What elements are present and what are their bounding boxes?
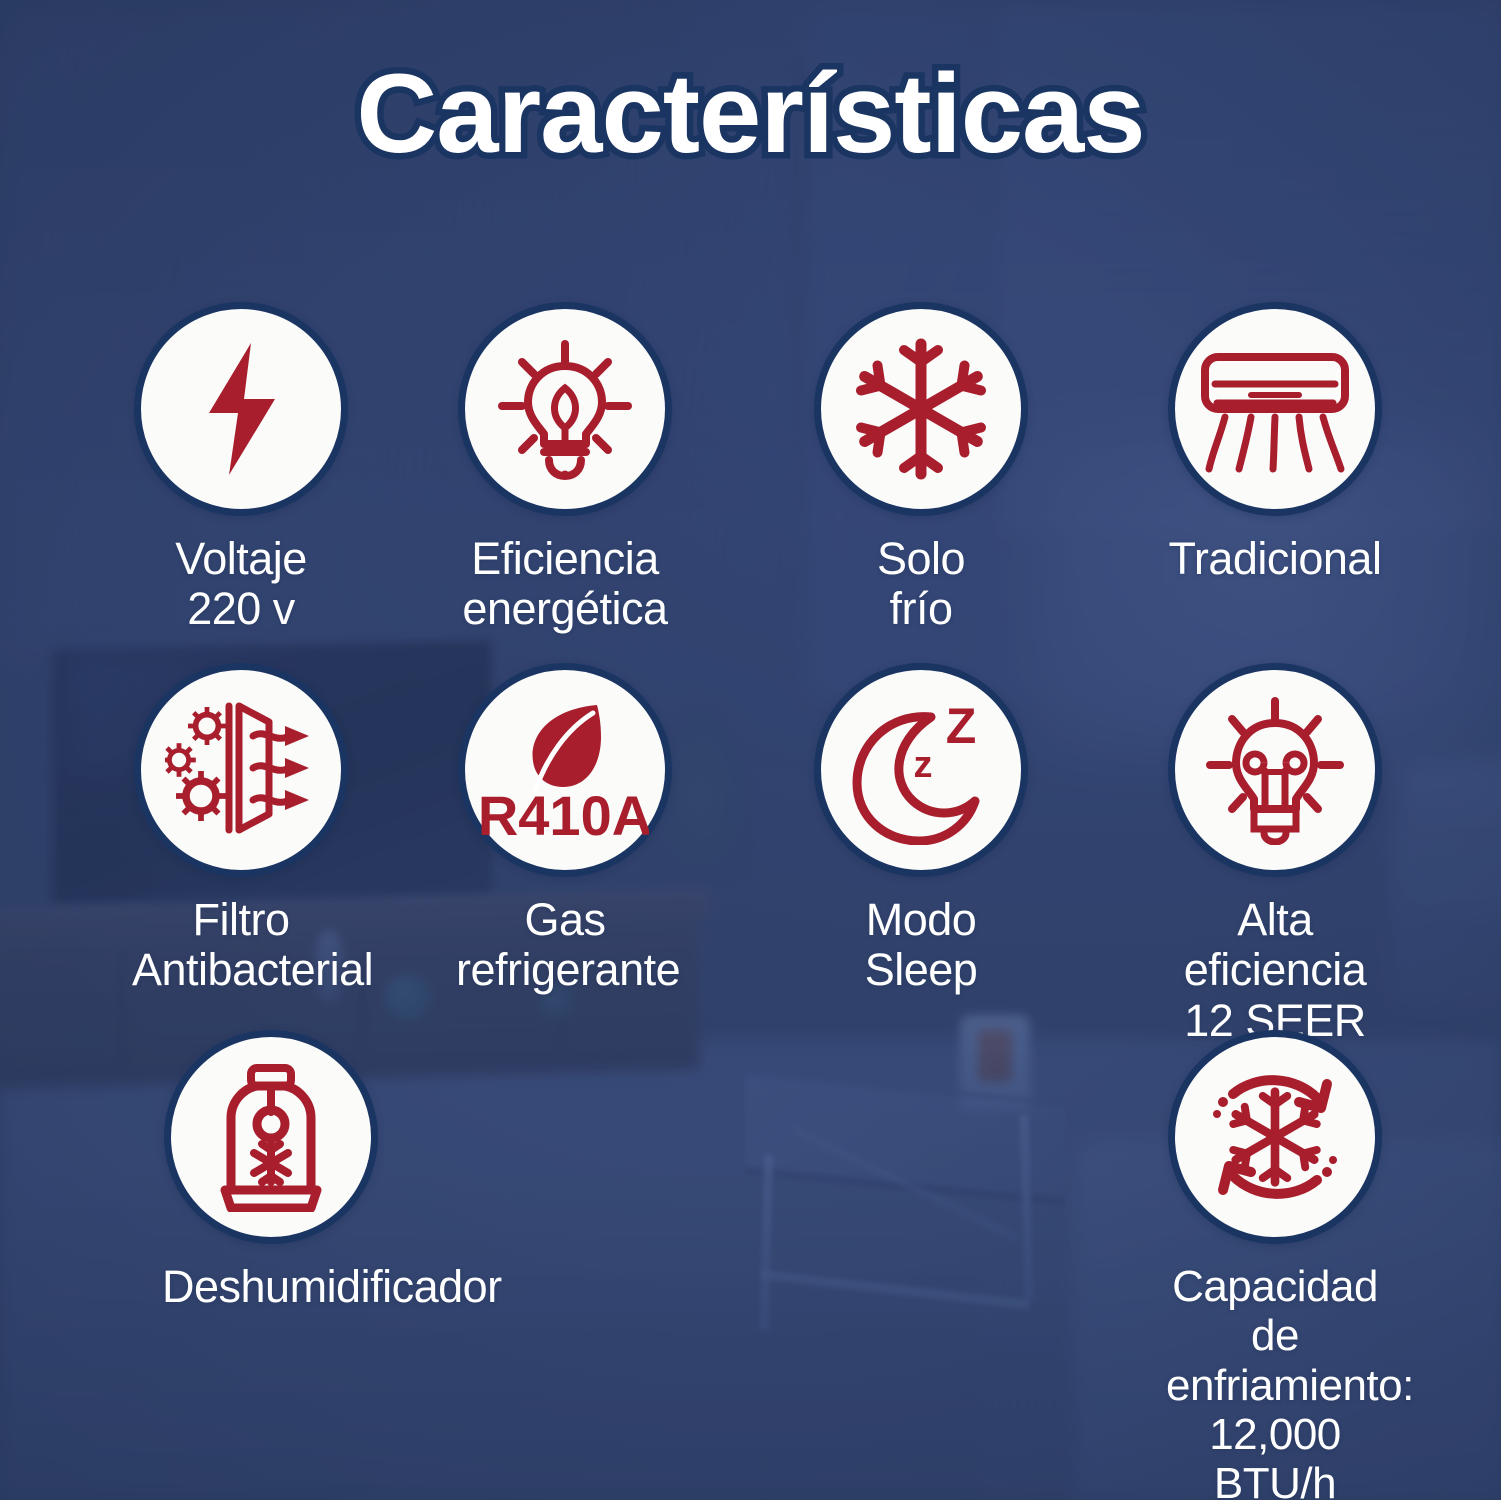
feature-caption: Alta eficiencia 12 SEER bbox=[1166, 895, 1384, 1046]
badge-circle bbox=[164, 1030, 378, 1244]
feature-caption: Deshumidificador bbox=[162, 1262, 380, 1312]
feature-caption: Filtro Antibacterial bbox=[132, 895, 350, 996]
snowflake-cycle-arrows-icon bbox=[1199, 1062, 1351, 1212]
feature-eficiencia-energetica[interactable]: Eficiencia energética bbox=[456, 302, 674, 635]
badge-circle bbox=[458, 302, 672, 516]
lightbulb-leaf-rays-icon bbox=[492, 336, 638, 482]
feature-grid: Voltaje 220 v bbox=[0, 0, 1501, 1500]
badge-circle bbox=[134, 663, 348, 877]
z-large-label: Z bbox=[946, 698, 977, 754]
feature-gas-refrigerante[interactable]: R410A Gas refrigerante bbox=[456, 663, 674, 996]
badge-circle: Z z bbox=[814, 663, 1028, 877]
feature-alta-eficiencia[interactable]: Alta eficiencia 12 SEER bbox=[1166, 663, 1384, 1046]
feature-caption: Tradicional bbox=[1166, 534, 1384, 584]
feature-caption: Eficiencia energética bbox=[456, 534, 674, 635]
z-small-label: z bbox=[914, 744, 933, 786]
feature-caption: Gas refrigerante bbox=[456, 895, 674, 996]
badge-circle bbox=[134, 302, 348, 516]
feature-caption: Solo frío bbox=[812, 534, 1030, 635]
feature-modo-sleep[interactable]: Z z Modo Sleep bbox=[812, 663, 1030, 996]
feature-caption: Modo Sleep bbox=[812, 895, 1030, 996]
leaf-r410a-icon: R410A bbox=[481, 695, 649, 845]
feature-tradicional[interactable]: Tradicional bbox=[1166, 302, 1384, 584]
feature-filtro-antibacterial[interactable]: Filtro Antibacterial bbox=[132, 663, 350, 996]
r410a-label: R410A bbox=[481, 784, 649, 845]
snowflake-icon bbox=[846, 334, 996, 484]
badge-circle bbox=[1168, 1030, 1382, 1244]
moon-zzz-icon: Z z bbox=[845, 695, 997, 845]
badge-circle bbox=[814, 302, 1028, 516]
split-ac-unit-airflow-icon bbox=[1195, 339, 1355, 479]
features-poster: Características Voltaje 220 v bbox=[0, 0, 1501, 1500]
feature-solo-frio[interactable]: Solo frío bbox=[812, 302, 1030, 635]
lightning-bolt-icon bbox=[185, 339, 297, 479]
feature-caption: Capacidad de enfriamiento: 12,000 BTU/h … bbox=[1166, 1262, 1384, 1500]
badge-circle bbox=[1168, 302, 1382, 516]
lightbulb-rays-icon bbox=[1202, 695, 1348, 845]
dehumidifier-snowflake-icon bbox=[205, 1062, 337, 1212]
badge-circle bbox=[1168, 663, 1382, 877]
feature-capacidad-enfriamiento[interactable]: Capacidad de enfriamiento: 12,000 BTU/h … bbox=[1166, 1030, 1384, 1500]
antibacterial-filter-icon bbox=[165, 700, 317, 840]
badge-circle: R410A bbox=[458, 663, 672, 877]
feature-deshumidificador[interactable]: Deshumidificador bbox=[162, 1030, 380, 1312]
feature-voltaje[interactable]: Voltaje 220 v bbox=[132, 302, 350, 635]
feature-caption: Voltaje 220 v bbox=[132, 534, 350, 635]
